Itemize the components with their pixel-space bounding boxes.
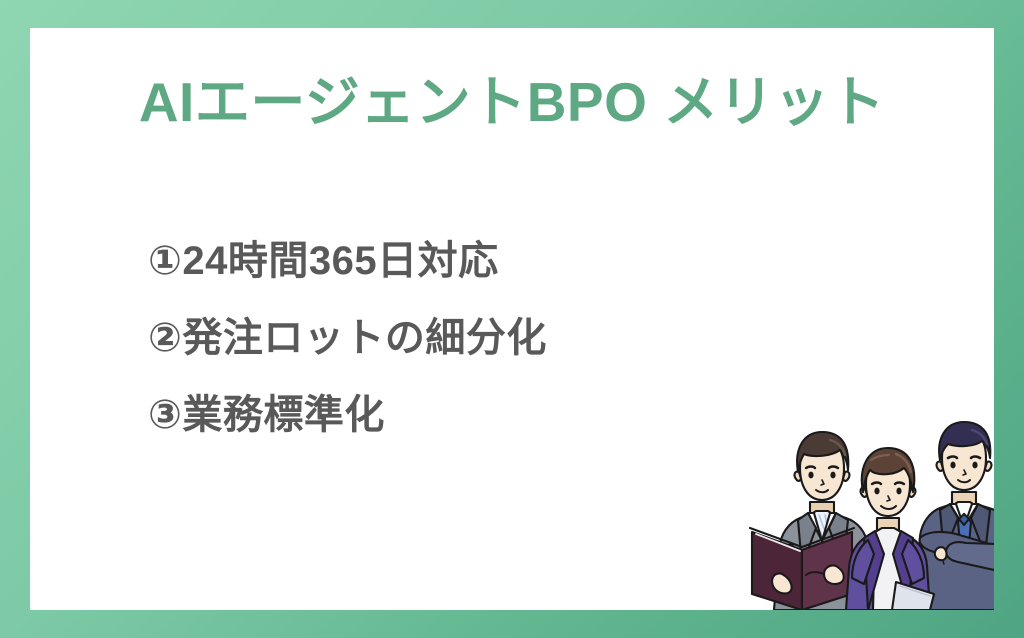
benefits-list: ①24時間365日対応 ②発注ロットの細分化 ③業務標準化 <box>148 218 788 449</box>
list-item-text: ①24時間365日対応 <box>148 228 499 286</box>
page-title: AIエージェントBPO メリット <box>30 72 994 133</box>
list-item-text: ③業務標準化 <box>148 382 385 440</box>
three-business-people-illustration <box>744 414 994 610</box>
list-item: ③業務標準化 <box>148 372 788 449</box>
list-item: ②発注ロットの細分化 <box>148 295 788 372</box>
list-item-text: ②発注ロットの細分化 <box>148 305 547 363</box>
slide-content-area: AIエージェントBPO メリット ①24時間365日対応 ②発注ロットの細分化 … <box>30 28 994 610</box>
list-item: ①24時間365日対応 <box>148 218 788 295</box>
slide-frame: AIエージェントBPO メリット ①24時間365日対応 ②発注ロットの細分化 … <box>0 0 1024 638</box>
